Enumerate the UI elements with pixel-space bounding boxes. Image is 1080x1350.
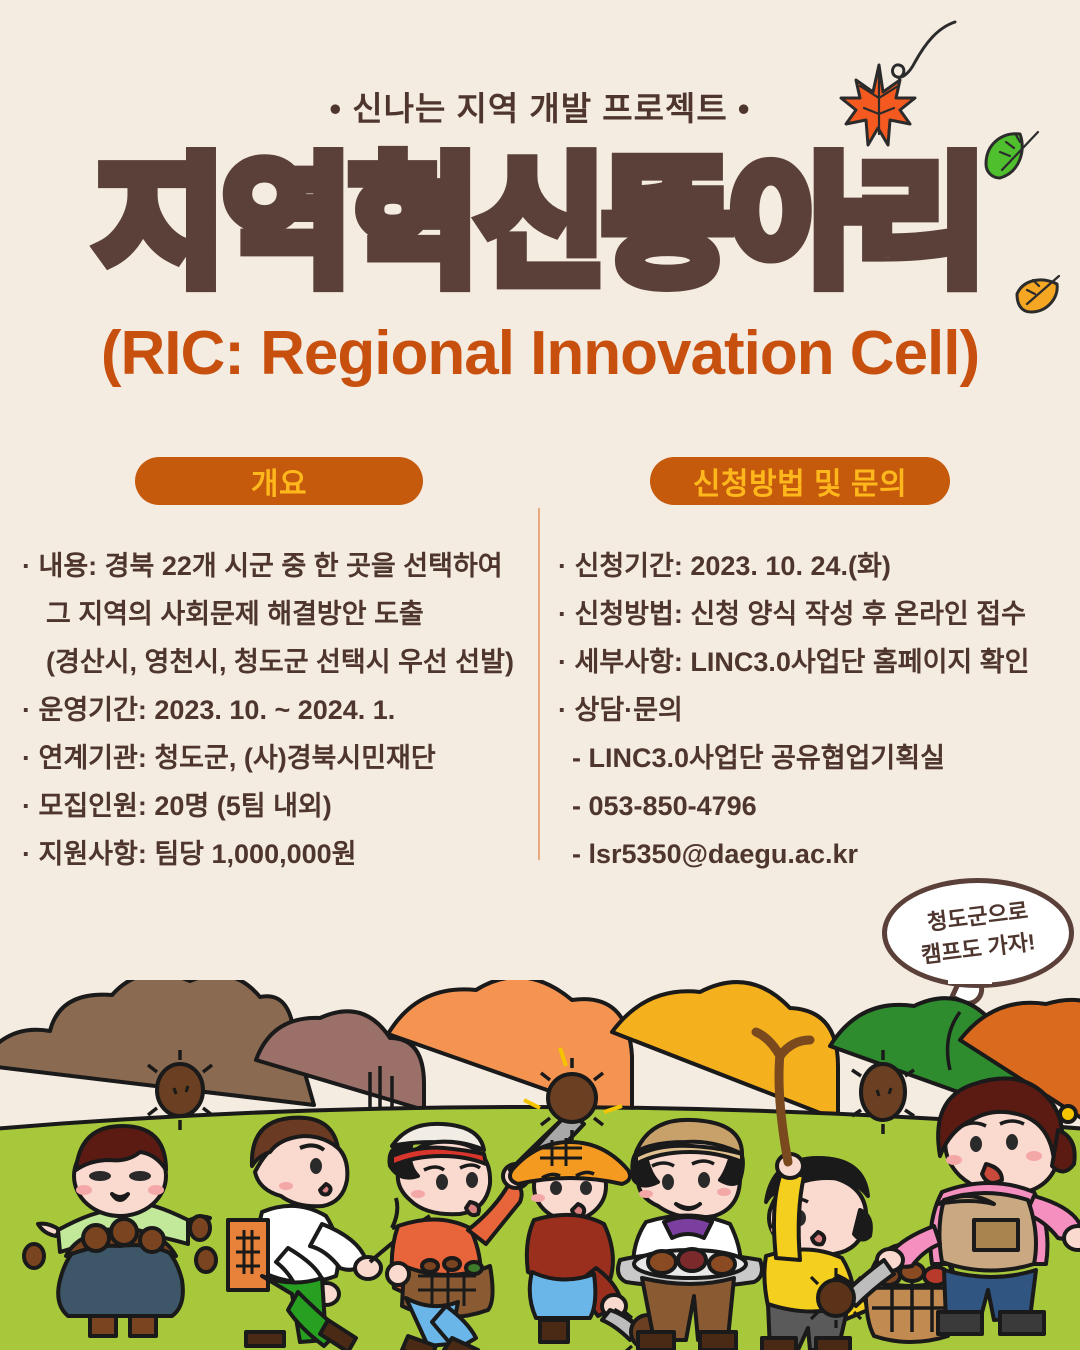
swirl-doodle-icon	[885, 18, 965, 88]
speech-bubble: 청도군으로 캠프도 가자!	[882, 878, 1074, 1002]
apply-line-4: - LINC3.0사업단 공유협업기획실	[558, 745, 1058, 772]
apply-line-3: · 상담·문의	[558, 697, 1058, 724]
autumn-harvest-illustration	[0, 980, 1080, 1350]
overview-line-1: 그 지역의 사회문제 해결방안 도출	[22, 601, 522, 628]
overview-line-5: · 모집인원: 20명 (5팀 내외)	[22, 793, 522, 820]
apply-line-1: · 신청방법: 신청 양식 작성 후 온라인 접수	[558, 601, 1058, 628]
page-subtitle: (RIC: Regional Innovation Cell)	[0, 318, 1080, 389]
apply-line-2: · 세부사항: LINC3.0사업단 홈페이지 확인	[558, 649, 1058, 676]
page-title: 지역혁신똥아리	[0, 150, 1080, 297]
apply-line-0: · 신청기간: 2023. 10. 24.(화)	[558, 553, 1058, 580]
overview-line-3: · 운영기간: 2023. 10. ~ 2024. 1.	[22, 697, 522, 724]
overview-list: · 내용: 경북 22개 시군 중 한 곳을 선택하여그 지역의 사회문제 해결…	[22, 553, 522, 889]
section-badge-overview: 개요	[135, 457, 423, 505]
speech-bubble-text: 청도군으로 캠프도 가자!	[882, 878, 1074, 988]
column-divider	[538, 508, 540, 860]
tagline: • 신나는 지역 개발 프로젝트 •	[0, 82, 1080, 130]
poster-root: • 신나는 지역 개발 프로젝트 • 지역혁신똥아리 (RIC: Regiona…	[0, 0, 1080, 1350]
section-badge-apply: 신청방법 및 문의	[650, 457, 950, 505]
overview-line-4: · 연계기관: 청도군, (사)경북시민재단	[22, 745, 522, 772]
overview-line-2: (경산시, 영천시, 청도군 선택시 우선 선발)	[22, 649, 522, 676]
apply-line-6: - lsr5350@daegu.ac.kr	[558, 841, 1058, 868]
apply-list: · 신청기간: 2023. 10. 24.(화)· 신청방법: 신청 양식 작성…	[558, 553, 1058, 889]
overview-line-6: · 지원사항: 팀당 1,000,000원	[22, 841, 522, 868]
overview-line-0: · 내용: 경북 22개 시군 중 한 곳을 선택하여	[22, 553, 522, 580]
apply-line-5: - 053-850-4796	[558, 793, 1058, 820]
